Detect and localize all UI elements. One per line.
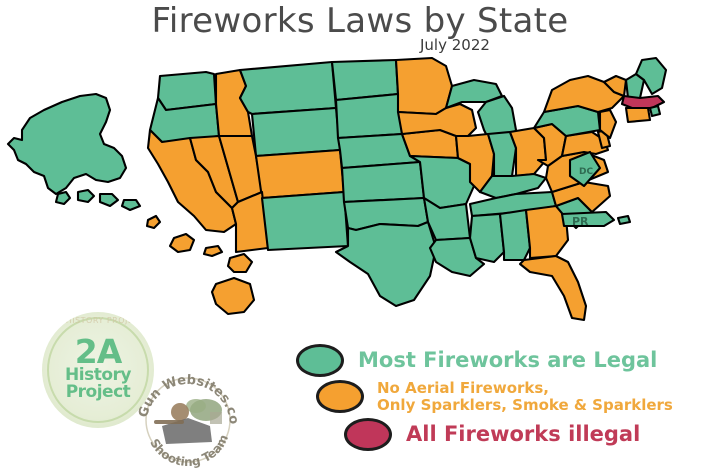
state-AK-aleutian-3 <box>100 194 118 206</box>
legend-item-legal[interactable]: Most Fireworks are Legal <box>296 344 657 377</box>
state-KS[interactable] <box>342 162 424 202</box>
state-MN[interactable] <box>396 58 452 114</box>
state-HI-kauai <box>147 216 160 228</box>
watermark-arc-text: 2A HISTORY PROJECT <box>42 316 154 325</box>
legend-swatch-illegal <box>344 418 392 451</box>
watermark-ring <box>47 317 149 423</box>
legend-label-restricted-line2: Only Sparklers, Smoke & Sparklers <box>377 396 673 414</box>
state-MS[interactable] <box>470 214 504 262</box>
watermark-gw-top-arc: Gun Websites.com <box>136 368 240 425</box>
state-AK-aleutian-1 <box>56 192 70 204</box>
us-map-svg: DC PR <box>0 52 720 352</box>
legend-label-restricted: No Aerial Fireworks, Only Sparklers, Smo… <box>377 380 673 412</box>
legend-item-illegal[interactable]: All Fireworks illegal <box>344 418 640 451</box>
state-PR-vieques <box>618 216 630 224</box>
legend-swatch-legal <box>296 344 344 377</box>
watermark-gw-shooter-icon <box>154 399 222 444</box>
legend-swatch-restricted <box>316 380 364 413</box>
watermark-gun-websites: Gun Websites.com Shooting Team <box>136 368 240 468</box>
state-HI-maui <box>228 254 252 272</box>
pr-inset[interactable]: PR <box>562 212 630 228</box>
state-WY[interactable] <box>252 108 340 156</box>
watermark-gun-websites-svg: Gun Websites.com Shooting Team <box>136 368 240 468</box>
state-FL[interactable] <box>520 256 586 320</box>
state-HI-bigisland[interactable] <box>212 278 254 314</box>
state-CO[interactable] <box>256 150 344 198</box>
state-AK-aleutian-2 <box>78 190 94 202</box>
page-title: Fireworks Laws by State <box>0 1 720 41</box>
us-map: DC PR <box>0 52 720 352</box>
map-infographic: Fireworks Laws by State July 2022 <box>0 0 720 471</box>
state-HI-oahu[interactable] <box>170 234 194 252</box>
state-RI[interactable] <box>650 106 660 116</box>
state-AK[interactable] <box>8 94 126 194</box>
state-MT[interactable] <box>240 62 336 114</box>
state-AL[interactable] <box>500 210 530 260</box>
state-NM[interactable] <box>262 192 348 250</box>
legend: Most Fireworks are Legal No Aerial Firew… <box>292 340 720 462</box>
state-CT[interactable] <box>626 108 650 122</box>
dc-label: DC <box>579 167 593 177</box>
legend-label-legal: Most Fireworks are Legal <box>358 349 657 372</box>
legend-label-illegal: All Fireworks illegal <box>406 423 640 446</box>
pr-label: PR <box>572 215 589 228</box>
state-TX[interactable] <box>336 222 436 306</box>
state-AK-aleutian-4 <box>122 200 140 210</box>
state-HI-molokai <box>204 246 222 256</box>
legend-item-restricted[interactable]: No Aerial Fireworks, Only Sparklers, Smo… <box>316 380 673 413</box>
state-SD[interactable] <box>336 94 402 138</box>
